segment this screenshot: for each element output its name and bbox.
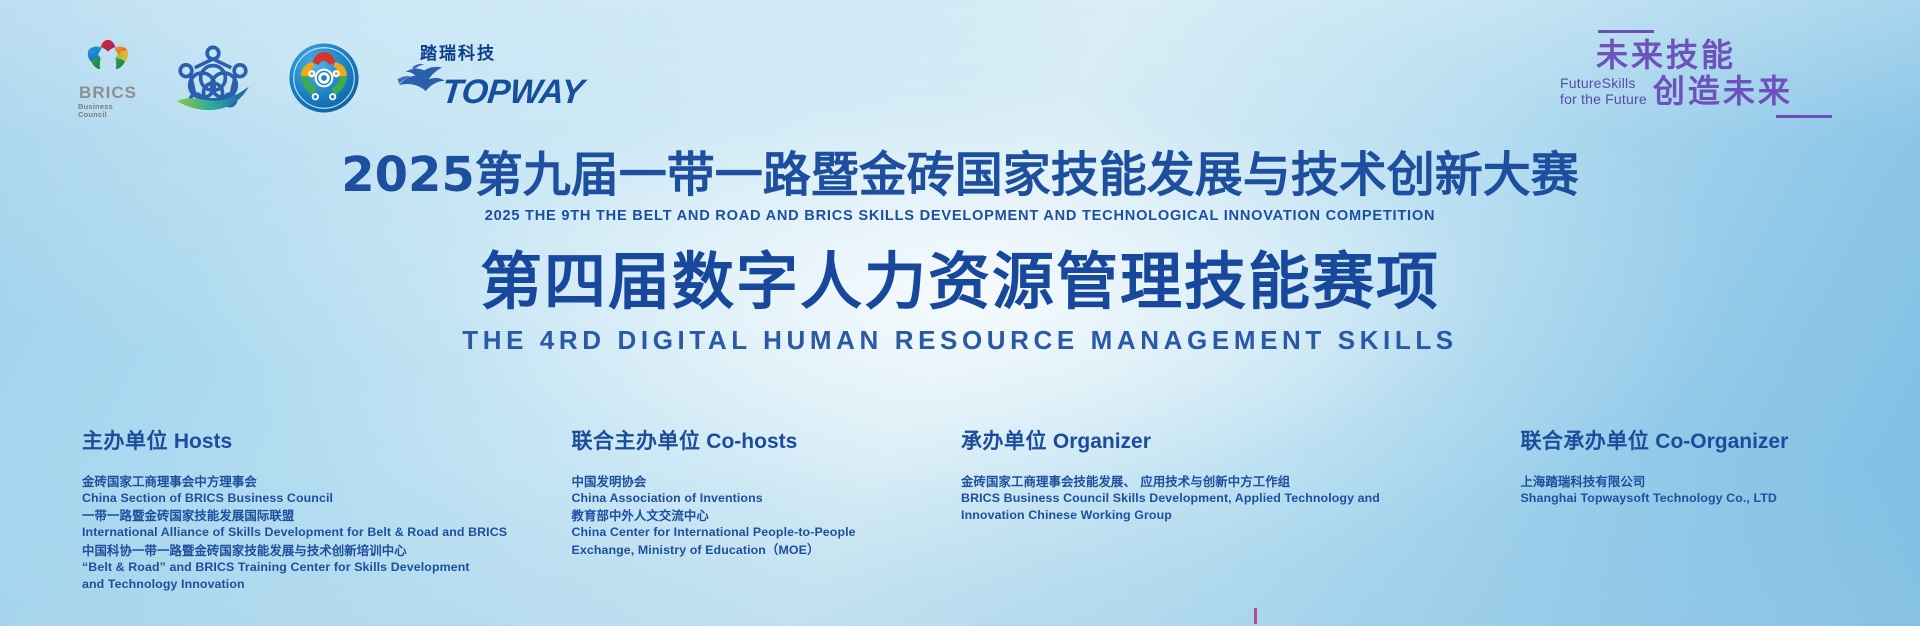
organizer-line: Innovation Chinese Working Group: [961, 507, 1506, 524]
badge-bottom-rule: [1776, 115, 1832, 118]
subtitle-chinese: 第四届数字人力资源管理技能赛项: [0, 247, 1920, 316]
organizer-heading-cn: 联合承办单位: [1520, 429, 1649, 453]
organizer-line: China Center for International People-to…: [571, 524, 947, 541]
badge-chinese-top: 未来技能: [1596, 39, 1860, 73]
organizer-heading-en: Co-Organizer: [1649, 430, 1788, 453]
organizer-line: 中国发明协会: [571, 473, 947, 490]
organizer-line: International Alliance of Skills Develop…: [82, 524, 557, 541]
logo-row: BRICS Business Council: [78, 38, 583, 118]
brics-logo: BRICS Business Council: [78, 38, 138, 118]
organizer-column-1: 主办单位 Hosts金砖国家工商理事会中方理事会China Section of…: [82, 430, 571, 593]
badge-english: FutureSkills for the Future: [1560, 75, 1647, 107]
brics-wordmark: BRICS: [79, 84, 137, 101]
badge-top-rule: [1598, 30, 1654, 33]
organizer-line: and Technology Innovation: [82, 576, 557, 593]
organizer-heading: 主办单位 Hosts: [82, 430, 557, 453]
topway-dragon-icon: [396, 63, 448, 103]
belt-road-alliance-emblem-icon: [172, 43, 254, 113]
organizer-column-2: 联合主办单位 Co-hosts中国发明协会China Association o…: [571, 430, 961, 593]
organizer-heading-en: Organizer: [1047, 430, 1151, 453]
brics-subtitle: Business Council: [78, 103, 138, 118]
organizer-line: 教育部中外人文交流中心: [571, 507, 947, 524]
organizer-line: China Association of Inventions: [571, 490, 947, 507]
organizer-heading: 联合承办单位 Co-Organizer: [1520, 430, 1906, 453]
bottom-magenta-mark: [1254, 608, 1257, 624]
organizer-line: 上海踏瑞科技有限公司: [1520, 473, 1906, 490]
badge-chinese-bottom: 创造未来: [1653, 75, 1793, 109]
organizer-line: 金砖国家工商理事会技能发展、 应用技术与创新中方工作组: [961, 473, 1506, 490]
topway-logo: 踏瑞科技 TOPWAY: [396, 46, 583, 111]
brics-star-icon: [85, 38, 131, 82]
competition-banner: BRICS Business Council: [0, 0, 1920, 626]
organizer-heading: 承办单位 Organizer: [961, 430, 1506, 453]
organizer-heading: 联合主办单位 Co-hosts: [571, 430, 947, 453]
organizer-line: 中国科协一带一路暨金砖国家技能发展与技术创新培训中心: [82, 542, 557, 559]
organizer-line: 一带一路暨金砖国家技能发展国际联盟: [82, 507, 557, 524]
organizer-line: China Section of BRICS Business Council: [82, 490, 557, 507]
organizer-column-4: 联合承办单位 Co-Organizer上海踏瑞科技有限公司Shanghai To…: [1520, 430, 1920, 593]
organizer-heading-cn: 承办单位: [961, 429, 1047, 453]
subtitle-english: THE 4RD DIGITAL HUMAN RESOURCE MANAGEMEN…: [0, 325, 1920, 356]
main-title-chinese: 2025第九届一带一路暨金砖国家技能发展与技术创新大赛: [0, 150, 1920, 202]
organizer-line: 金砖国家工商理事会中方理事会: [82, 473, 557, 490]
organizer-line: “Belt & Road” and BRICS Training Center …: [82, 559, 557, 576]
organizer-column-3: 承办单位 Organizer金砖国家工商理事会技能发展、 应用技术与创新中方工作…: [961, 430, 1520, 593]
round-emblem-logo: [288, 42, 360, 114]
topway-wordmark: TOPWAY: [440, 75, 585, 111]
organizer-heading-cn: 主办单位: [82, 429, 168, 453]
skills-competition-round-emblem-icon: [288, 42, 360, 114]
organizer-heading-cn: 联合主办单位: [571, 429, 700, 453]
organizer-columns: 主办单位 Hosts金砖国家工商理事会中方理事会China Section of…: [0, 430, 1920, 593]
organizer-heading-en: Co-hosts: [700, 430, 797, 453]
topway-chinese-name: 踏瑞科技: [420, 46, 583, 63]
title-block: 2025第九届一带一路暨金砖国家技能发展与技术创新大赛 2025 THE 9TH…: [0, 150, 1920, 356]
organizer-line: BRICS Business Council Skills Developmen…: [961, 490, 1506, 507]
organizer-line: Exchange, Ministry of Education（MOE）: [571, 542, 947, 559]
main-title-english: 2025 THE 9TH THE BELT AND ROAD AND BRICS…: [38, 207, 1881, 225]
organizer-line: Shanghai Topwaysoft Technology Co., LTD: [1520, 490, 1906, 507]
alliance-emblem-logo: [172, 43, 254, 113]
organizer-heading-en: Hosts: [168, 430, 232, 453]
future-skills-badge: 未来技能 FutureSkills for the Future 创造未来: [1560, 30, 1860, 118]
